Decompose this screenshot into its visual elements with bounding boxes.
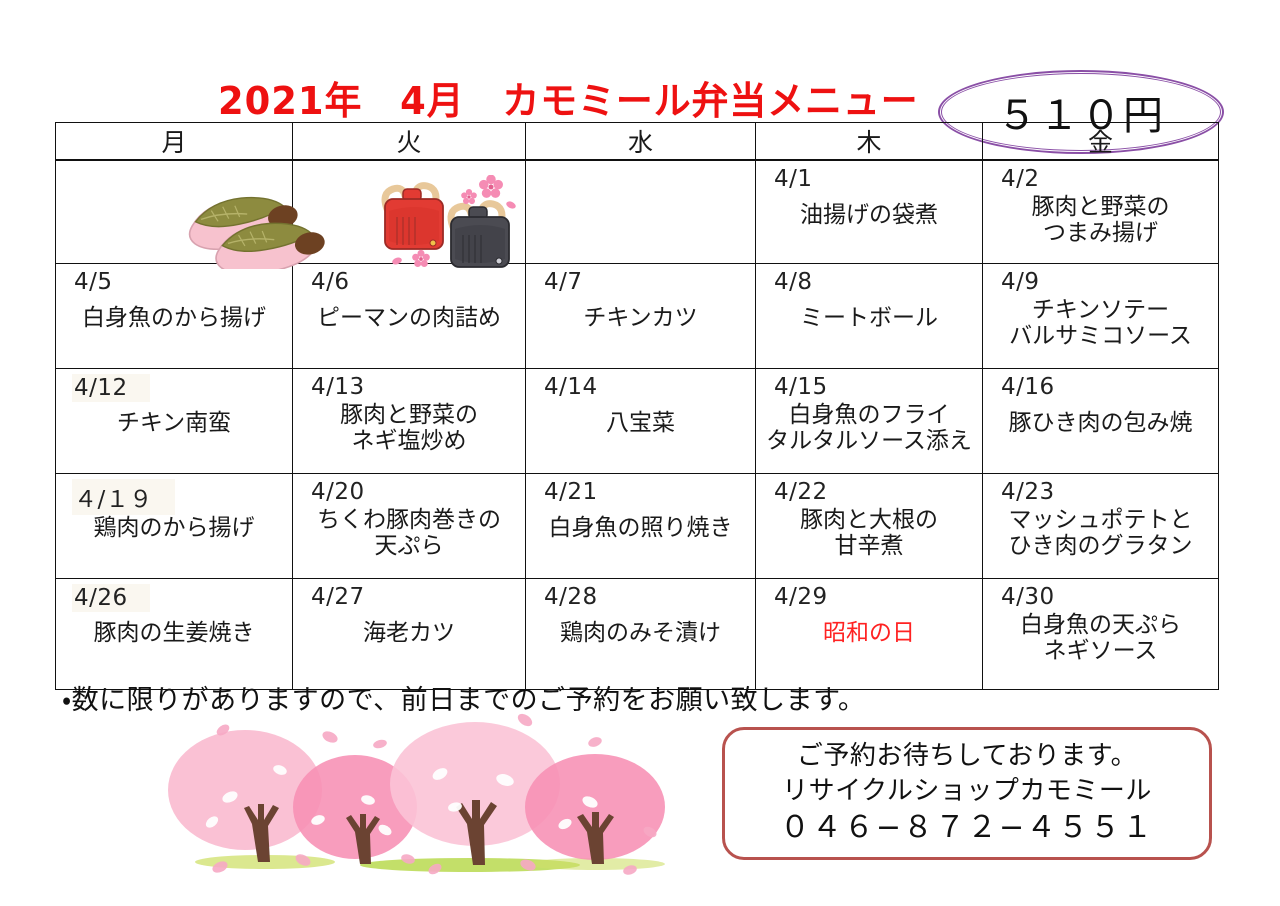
calendar-week-row: 4/26豚肉の生姜焼き4/27海老カツ4/28鶏肉のみそ漬け4/29昭和の日4/… — [56, 579, 1219, 690]
menu-dish-label: 白身魚のから揚げ — [56, 306, 292, 332]
calendar-day-cell[interactable]: 4/12チキン南蛮 — [56, 369, 293, 474]
calendar-day-cell[interactable]: 4/2豚肉と野菜のつまみ揚げ — [983, 160, 1219, 264]
calendar-day-cell[interactable]: 4/22豚肉と大根の甘辛煮 — [756, 474, 983, 579]
sakura-trees-illustration — [140, 712, 710, 902]
calendar-day-cell[interactable] — [526, 160, 756, 264]
menu-dish-label: 鶏肉のから揚げ — [56, 516, 292, 542]
day-date-label: 4/8 — [774, 269, 813, 295]
calendar-day-cell[interactable]: 4/30白身魚の天ぷらネギソース — [983, 579, 1219, 690]
calendar-day-cell[interactable]: 4/6ピーマンの肉詰め — [293, 264, 526, 369]
menu-dish-label: チキンカツ — [526, 306, 755, 332]
day-cell-content — [293, 161, 525, 263]
calendar-week-row: 4/5白身魚のから揚げ4/6ピーマンの肉詰め4/7チキンカツ4/8ミートボール4… — [56, 264, 1219, 369]
calendar-week-row: 4/1油揚げの袋煮4/2豚肉と野菜のつまみ揚げ — [56, 160, 1219, 264]
calendar-day-cell[interactable]: 4/26豚肉の生姜焼き — [56, 579, 293, 690]
calendar-day-cell[interactable]: 4/28鶏肉のみそ漬け — [526, 579, 756, 690]
calendar-day-cell[interactable]: 4/7チキンカツ — [526, 264, 756, 369]
calendar-header-row: 月 火 水 木 金 — [56, 123, 1219, 161]
calendar-day-cell[interactable]: 4/1油揚げの袋煮 — [756, 160, 983, 264]
contact-line-phone: ０４６−８７２−４５５１ — [780, 808, 1154, 848]
menu-dish-label: チキンソテーバルサミコソース — [983, 298, 1218, 350]
menu-dish-label: 鶏肉のみそ漬け — [526, 621, 755, 647]
menu-dish-label: 海老カツ — [293, 621, 525, 647]
day-date-label: 4/2 — [1001, 166, 1040, 192]
day-date-label: 4/29 — [774, 584, 828, 610]
day-cell-content — [526, 161, 755, 263]
menu-dish-label: 八宝菜 — [526, 411, 755, 437]
calendar-day-cell[interactable]: 4/5白身魚のから揚げ — [56, 264, 293, 369]
sakura-mochi-icon — [56, 161, 292, 263]
randoseru-backpacks-art — [363, 175, 548, 274]
calendar-body: 4/1油揚げの袋煮4/2豚肉と野菜のつまみ揚げ4/5白身魚のから揚げ4/6ピーマ… — [56, 160, 1219, 690]
day-cell-content: 4/12チキン南蛮 — [56, 369, 292, 473]
weekday-header-tue: 火 — [293, 123, 526, 161]
menu-dish-label: 豚肉と野菜のネギ塩炒め — [293, 403, 525, 455]
page-title: 2021年 4月 カモミール弁当メニュー — [218, 82, 919, 120]
weekday-header-mon: 月 — [56, 123, 293, 161]
day-cell-content: 4/7チキンカツ — [526, 264, 755, 368]
day-cell-content: 4/26豚肉の生姜焼き — [56, 579, 292, 689]
day-cell-content: 4/16豚ひき肉の包み焼 — [983, 369, 1218, 473]
day-cell-content: 4/29昭和の日 — [756, 579, 982, 689]
day-date-label: 4/14 — [544, 374, 598, 400]
calendar-day-cell[interactable] — [293, 160, 526, 264]
day-cell-content: 4/9チキンソテーバルサミコソース — [983, 264, 1218, 368]
calendar-day-cell[interactable]: 4/8ミートボール — [756, 264, 983, 369]
weekday-header-fri: 金 — [983, 123, 1219, 161]
day-cell-content: 4/28鶏肉のみそ漬け — [526, 579, 755, 689]
calendar-day-cell[interactable]: 4/20ちくわ豚肉巻きの天ぷら — [293, 474, 526, 579]
menu-calendar: 月 火 水 木 金 — [55, 122, 1219, 690]
day-date-label: 4/13 — [311, 374, 365, 400]
calendar-day-cell[interactable]: 4/9チキンソテーバルサミコソース — [983, 264, 1219, 369]
day-cell-content: 4/23マッシュポテトとひき肉のグラタン — [983, 474, 1218, 578]
day-cell-content: 4/6ピーマンの肉詰め — [293, 264, 525, 368]
menu-dish-label: 豚肉の生姜焼き — [56, 621, 292, 647]
weekday-header-thu: 木 — [756, 123, 983, 161]
menu-dish-label: 白身魚の天ぷらネギソース — [983, 613, 1218, 665]
randoseru-backpacks-icon — [293, 161, 525, 263]
calendar-day-cell[interactable]: 4/13豚肉と野菜のネギ塩炒め — [293, 369, 526, 474]
title-row: 2021年 4月 カモミール弁当メニュー ５１０円 — [0, 38, 1280, 118]
day-date-label: 4/5 — [74, 269, 113, 295]
calendar-day-cell[interactable]: 4/21白身魚の照り焼き — [526, 474, 756, 579]
calendar-day-cell[interactable]: 4/16豚ひき肉の包み焼 — [983, 369, 1219, 474]
menu-dish-label: 豚肉と大根の甘辛煮 — [756, 508, 982, 560]
day-cell-content: ４/１９鶏肉のから揚げ — [56, 474, 292, 578]
calendar-day-cell[interactable]: 4/23マッシュポテトとひき肉のグラタン — [983, 474, 1219, 579]
calendar-day-cell[interactable]: 4/29昭和の日 — [756, 579, 983, 690]
day-date-label: 4/6 — [311, 269, 350, 295]
weekday-header-wed: 水 — [526, 123, 756, 161]
holiday-label: 昭和の日 — [756, 621, 982, 647]
calendar-day-cell[interactable] — [56, 160, 293, 264]
day-date-label: 4/7 — [544, 269, 583, 295]
day-cell-content — [56, 161, 292, 263]
day-cell-content: 4/30白身魚の天ぷらネギソース — [983, 579, 1218, 689]
contact-line-shopname: リサイクルショップカモミール — [782, 774, 1152, 808]
menu-dish-label: 豚肉と野菜のつまみ揚げ — [983, 195, 1218, 247]
day-date-label: 4/27 — [311, 584, 365, 610]
menu-dish-label: 白身魚のフライタルタルソース添え — [756, 403, 982, 455]
calendar-day-cell[interactable]: ４/１９鶏肉のから揚げ — [56, 474, 293, 579]
contact-box: ご予約お待ちしております。 リサイクルショップカモミール ０４６−８７２−４５５… — [722, 727, 1212, 860]
menu-dish-label: チキン南蛮 — [56, 411, 292, 437]
menu-dish-label: 白身魚の照り焼き — [526, 516, 755, 542]
day-date-label: 4/12 — [72, 374, 150, 402]
calendar-day-cell[interactable]: 4/14八宝菜 — [526, 369, 756, 474]
day-date-label: 4/15 — [774, 374, 828, 400]
menu-dish-label: ミートボール — [756, 306, 982, 332]
day-date-label: ４/１９ — [72, 479, 175, 515]
day-cell-content: 4/20ちくわ豚肉巻きの天ぷら — [293, 474, 525, 578]
day-date-label: 4/9 — [1001, 269, 1040, 295]
day-cell-content: 4/13豚肉と野菜のネギ塩炒め — [293, 369, 525, 473]
contact-line-reservation: ご予約お待ちしております。 — [797, 739, 1137, 773]
day-cell-content: 4/5白身魚のから揚げ — [56, 264, 292, 368]
day-date-label: 4/30 — [1001, 584, 1055, 610]
day-date-label: 4/16 — [1001, 374, 1055, 400]
calendar-day-cell[interactable]: 4/15白身魚のフライタルタルソース添え — [756, 369, 983, 474]
day-date-label: 4/20 — [311, 479, 365, 505]
day-date-label: 4/1 — [774, 166, 813, 192]
day-date-label: 4/21 — [544, 479, 598, 505]
day-cell-content: 4/1油揚げの袋煮 — [756, 161, 982, 263]
calendar-week-row: ４/１９鶏肉のから揚げ4/20ちくわ豚肉巻きの天ぷら4/21白身魚の照り焼き4/… — [56, 474, 1219, 579]
day-cell-content: 4/22豚肉と大根の甘辛煮 — [756, 474, 982, 578]
menu-dish-label: マッシュポテトとひき肉のグラタン — [983, 508, 1218, 560]
day-date-label: 4/22 — [774, 479, 828, 505]
menu-dish-label: 豚ひき肉の包み焼 — [983, 411, 1218, 437]
day-date-label: 4/26 — [72, 584, 150, 612]
menu-dish-label: ちくわ豚肉巻きの天ぷら — [293, 508, 525, 560]
calendar-week-row: 4/12チキン南蛮4/13豚肉と野菜のネギ塩炒め4/14八宝菜4/15白身魚のフ… — [56, 369, 1219, 474]
day-date-label: 4/23 — [1001, 479, 1055, 505]
menu-dish-label: ピーマンの肉詰め — [293, 306, 525, 332]
day-cell-content: 4/8ミートボール — [756, 264, 982, 368]
day-cell-content: 4/21白身魚の照り焼き — [526, 474, 755, 578]
day-cell-content: 4/14八宝菜 — [526, 369, 755, 473]
day-cell-content: 4/2豚肉と野菜のつまみ揚げ — [983, 161, 1218, 263]
calendar-day-cell[interactable]: 4/27海老カツ — [293, 579, 526, 690]
day-cell-content: 4/15白身魚のフライタルタルソース添え — [756, 369, 982, 473]
day-date-label: 4/28 — [544, 584, 598, 610]
menu-dish-label: 油揚げの袋煮 — [756, 203, 982, 229]
day-cell-content: 4/27海老カツ — [293, 579, 525, 689]
